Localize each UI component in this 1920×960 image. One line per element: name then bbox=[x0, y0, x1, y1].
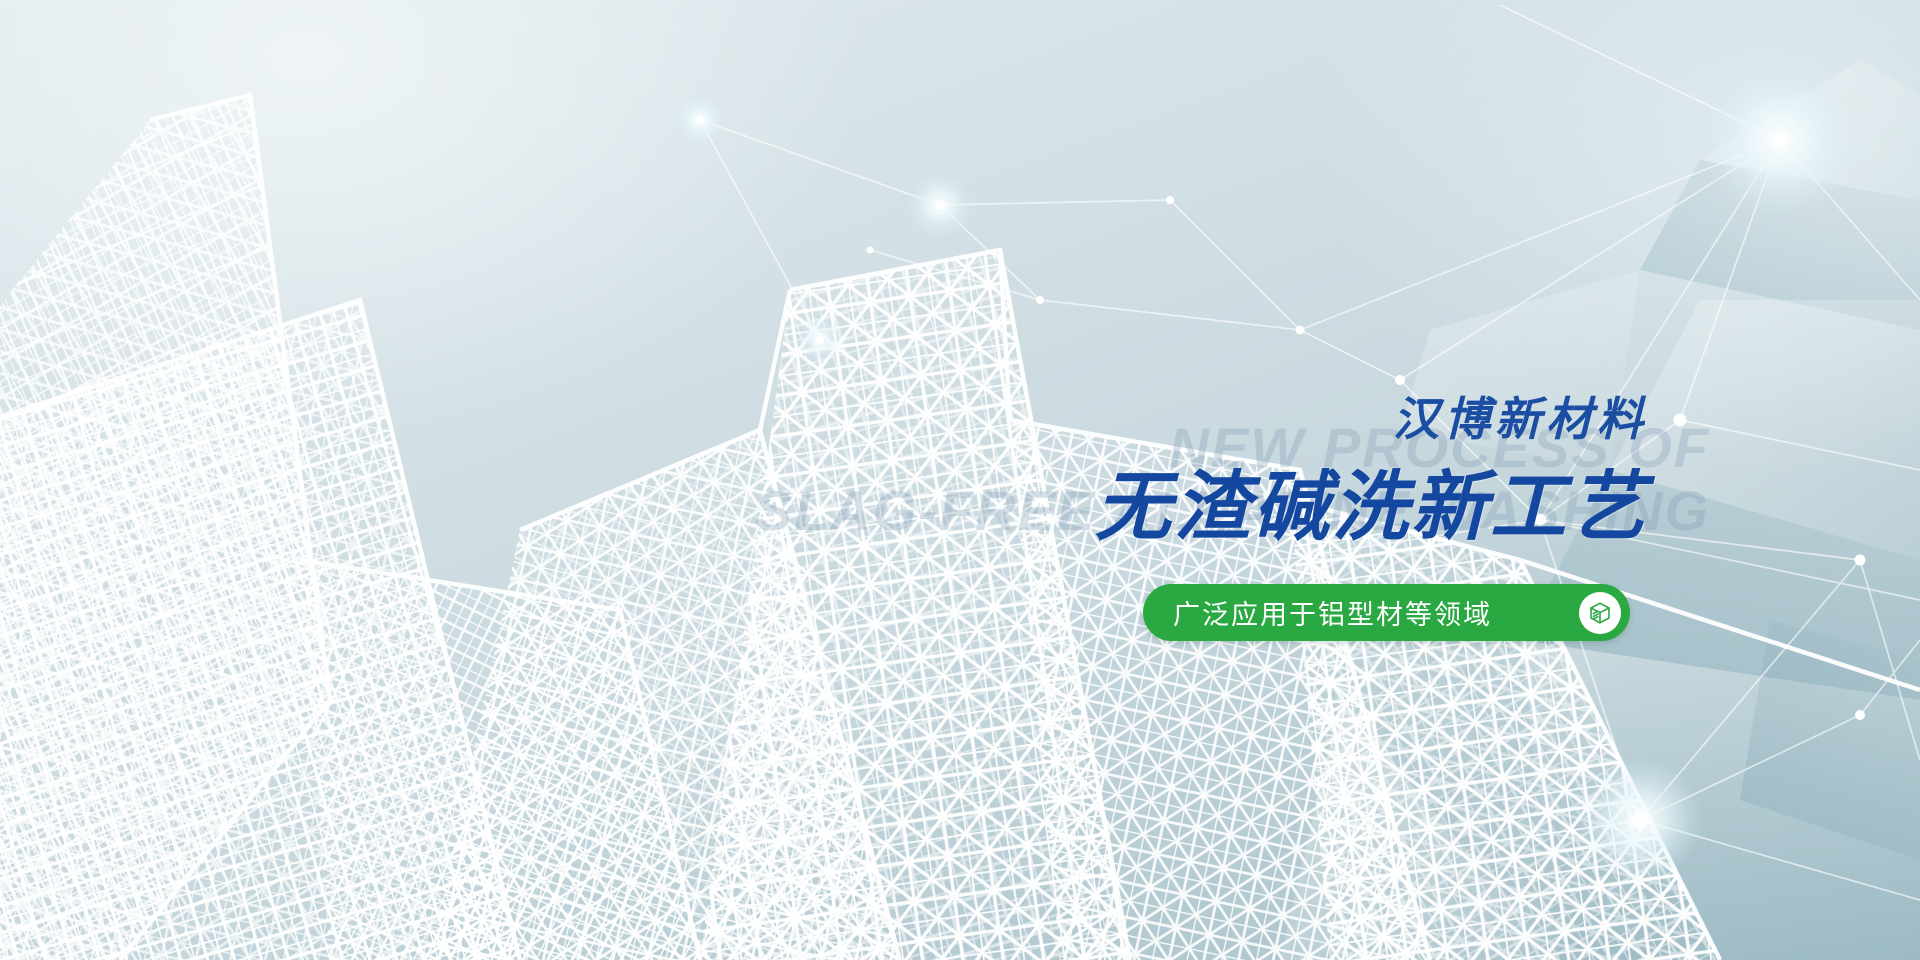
hero-banner: NEW PROCESS OF SLAG-FREE ALKALINE WASHIN… bbox=[0, 0, 1920, 960]
network-constellation-layer bbox=[0, 0, 1920, 960]
tagline-pill[interactable]: 广泛应用于铝型材等领域 bbox=[1143, 584, 1630, 641]
network-nodes bbox=[696, 116, 1866, 829]
cube-icon bbox=[1579, 592, 1621, 634]
network-node-glows bbox=[674, 62, 1858, 882]
tagline-label: 广泛应用于铝型材等领域 bbox=[1173, 593, 1579, 632]
